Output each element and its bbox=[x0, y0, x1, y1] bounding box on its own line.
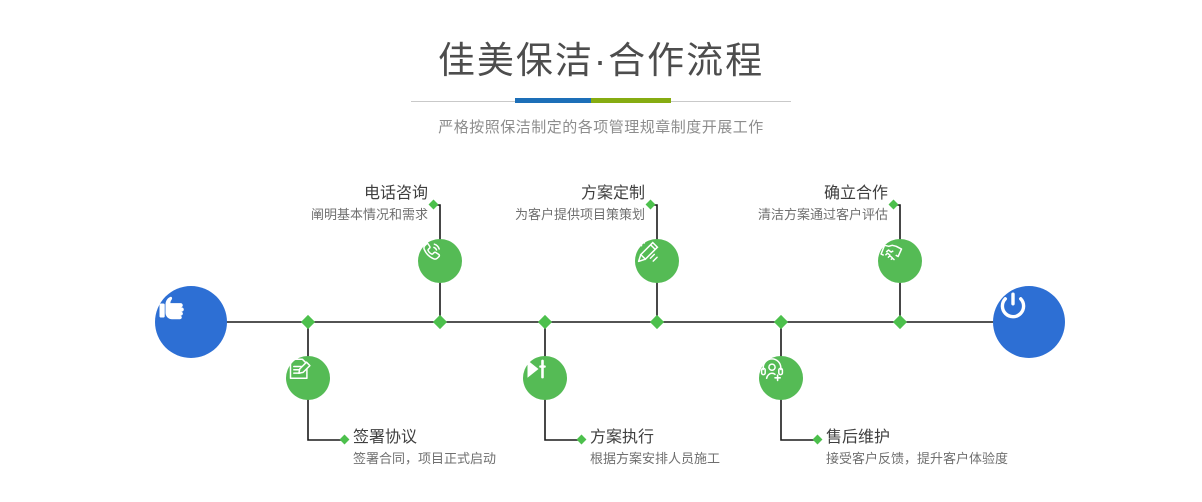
step-label-plan-execute: 方案执行 根据方案安排人员施工 bbox=[590, 427, 720, 469]
step-label-after-sales: 售后维护 接受客户反馈，提升客户体验度 bbox=[826, 427, 1008, 469]
spine-diamond-6 bbox=[893, 315, 907, 329]
label-diamond-down-2 bbox=[577, 435, 587, 445]
step-label-phone-consult: 电话咨询 阐明基本情况和需求 bbox=[311, 183, 428, 225]
step-title: 确立合作 bbox=[758, 183, 888, 205]
timeline-end-endpoint[interactable] bbox=[993, 286, 1065, 358]
step-node-phone-consult[interactable] bbox=[418, 239, 462, 283]
timeline-start-endpoint[interactable] bbox=[155, 286, 227, 358]
step-label-sign-agreement: 签署协议 签署合同，项目正式启动 bbox=[353, 427, 496, 469]
step-title: 签署协议 bbox=[353, 427, 496, 449]
step-title: 方案定制 bbox=[515, 183, 645, 205]
step-node-plan-custom[interactable] bbox=[635, 239, 679, 283]
step-desc: 为客户提供项目策策划 bbox=[515, 205, 645, 225]
spine-diamond-5 bbox=[774, 315, 788, 329]
step-node-establish-coop[interactable] bbox=[878, 239, 922, 283]
step-title: 售后维护 bbox=[826, 427, 1008, 449]
step-desc: 根据方案安排人员施工 bbox=[590, 449, 720, 469]
step-node-plan-execute[interactable] bbox=[523, 356, 567, 400]
spine-diamond-3 bbox=[538, 315, 552, 329]
step-desc: 阐明基本情况和需求 bbox=[311, 205, 428, 225]
step-title: 方案执行 bbox=[590, 427, 720, 449]
process-timeline: 电话咨询 阐明基本情况和需求 方案定制 为客户提供项目策策划 确立合作 清洁方案… bbox=[0, 0, 1202, 502]
step-label-establish-coop: 确立合作 清洁方案通过客户评估 bbox=[758, 183, 888, 225]
label-diamond-up-2 bbox=[646, 200, 656, 210]
label-diamond-down-3 bbox=[813, 435, 823, 445]
spine-diamond-2 bbox=[433, 315, 447, 329]
step-label-plan-custom: 方案定制 为客户提供项目策策划 bbox=[515, 183, 645, 225]
label-diamond-down-1 bbox=[340, 435, 350, 445]
step-desc: 签署合同，项目正式启动 bbox=[353, 449, 496, 469]
step-desc: 接受客户反馈，提升客户体验度 bbox=[826, 449, 1008, 469]
label-diamond-up-1 bbox=[429, 200, 439, 210]
step-node-sign-agreement[interactable] bbox=[286, 356, 330, 400]
spine-diamond-1 bbox=[301, 315, 315, 329]
step-node-after-sales[interactable] bbox=[759, 356, 803, 400]
step-title: 电话咨询 bbox=[311, 183, 428, 205]
label-diamond-up-3 bbox=[889, 200, 899, 210]
spine-diamond-4 bbox=[650, 315, 664, 329]
step-desc: 清洁方案通过客户评估 bbox=[758, 205, 888, 225]
